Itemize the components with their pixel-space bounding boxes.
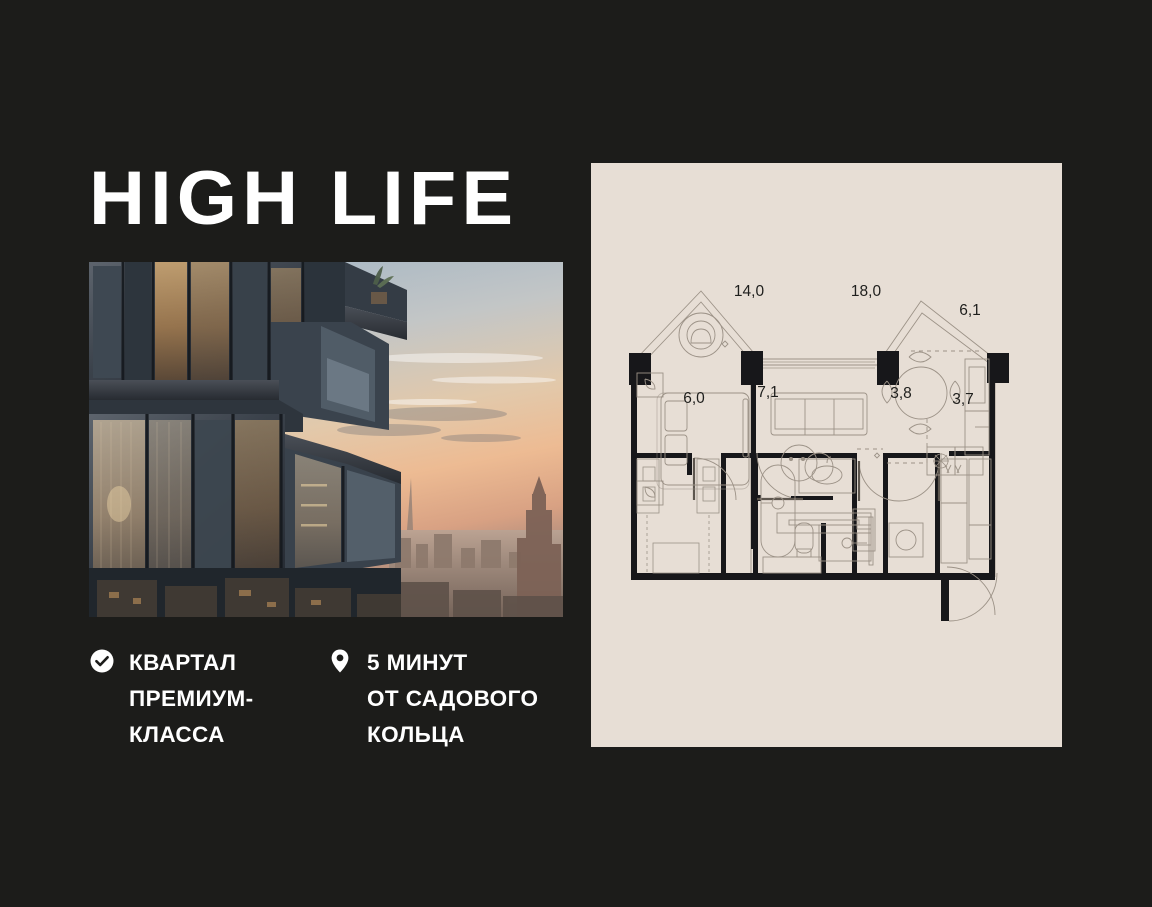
room-label-bathroom: 7,1	[757, 384, 779, 401]
left-column: HIGH LIFE	[89, 152, 563, 246]
brand-logo: HIGH LIFE	[89, 152, 572, 246]
feature-premium-quarter: КВАРТАЛ ПРЕМИУМ- КЛАССА	[89, 645, 327, 753]
room-label-laundry: 3,7	[952, 391, 974, 408]
room-label-wardrobe: 6,0	[683, 390, 705, 407]
check-circle-icon	[89, 648, 115, 674]
promo-card: HIGH LIFE	[0, 0, 1152, 907]
map-pin-icon	[327, 648, 353, 674]
room-label-hallway: 3,8	[890, 385, 912, 402]
feature-garden-ring: 5 МИНУТ ОТ САДОВОГО КОЛЬЦА	[327, 645, 563, 753]
feature-garden-ring-label: 5 МИНУТ ОТ САДОВОГО КОЛЬЦА	[367, 645, 538, 753]
feature-list: КВАРТАЛ ПРЕМИУМ- КЛАССА 5 МИНУТ ОТ САДОВ…	[89, 645, 563, 753]
floor-plan-panel: 14,0 18,0	[591, 163, 1062, 747]
building-exterior-photo	[89, 262, 563, 617]
room-label-living-room: 18,0	[851, 283, 882, 300]
feature-premium-quarter-label: КВАРТАЛ ПРЕМИУМ- КЛАССА	[129, 645, 254, 753]
room-label-kitchen: 6,1	[959, 302, 981, 319]
room-label-bedroom: 14,0	[734, 283, 765, 300]
apartment-floor-plan: 14,0 18,0	[591, 163, 1062, 747]
